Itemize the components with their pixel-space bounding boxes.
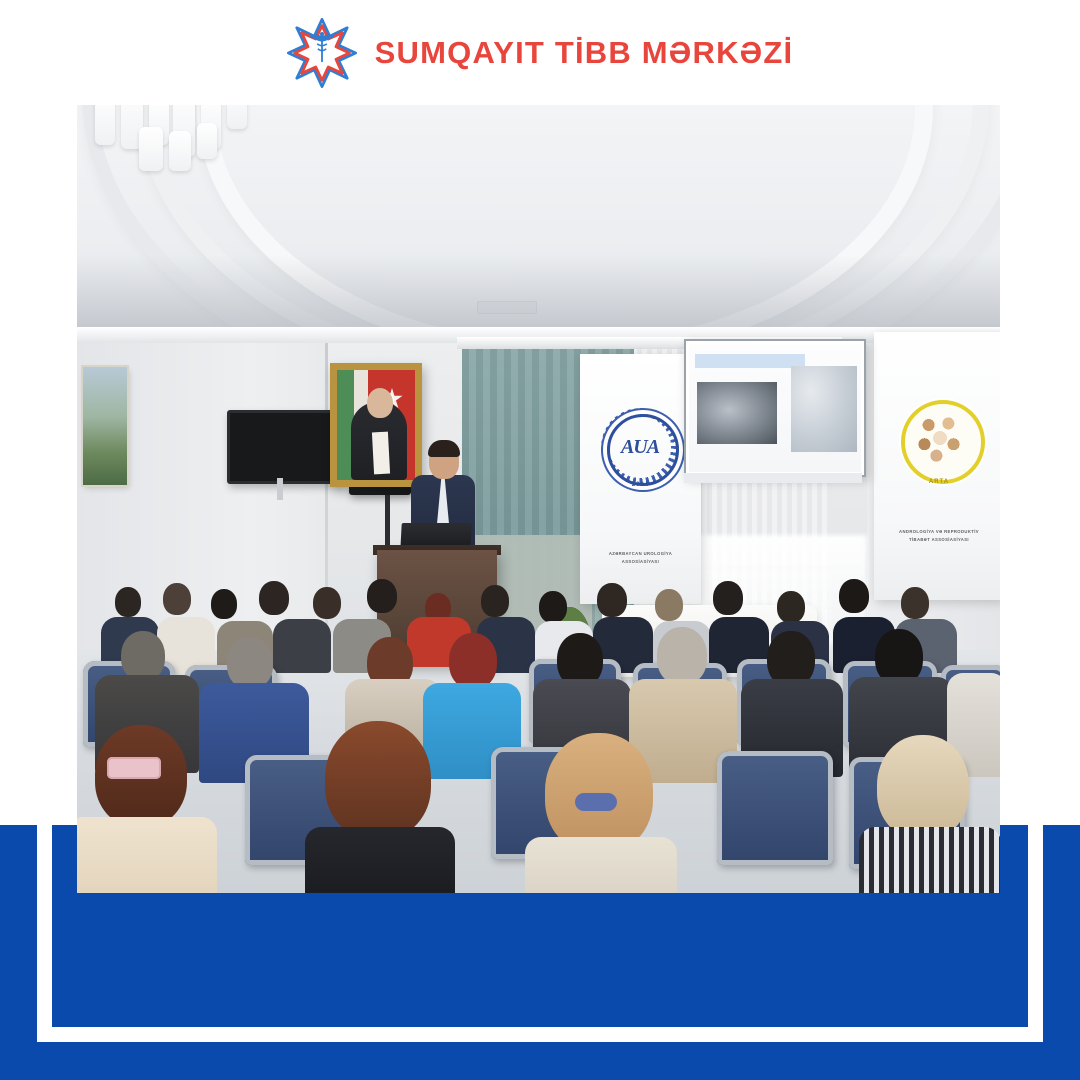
hair-tie-icon: [575, 793, 617, 811]
attendee-head: [313, 587, 341, 619]
portrait-shirt: [372, 432, 390, 475]
attendee-head: [839, 579, 869, 613]
tv-cable: [277, 478, 283, 500]
post-canvas: SUMQAYIT TİBB MƏRKƏZİ: [0, 0, 1080, 1080]
attendee-torso: [525, 837, 677, 893]
presenter-hair: [428, 440, 460, 457]
aua-abbr: AUA: [607, 416, 673, 478]
arta-abbr: ARTA: [874, 479, 1000, 485]
aua-year: 2004: [580, 482, 701, 488]
arta-caption-line1: ANDROLOGİYA VƏ REPRODUKTİV: [874, 528, 1000, 535]
chair: [717, 751, 833, 865]
attendee-torso: [305, 827, 455, 893]
attendee-head: [657, 627, 707, 685]
page-title: SUMQAYIT TİBB MƏRKƏZİ: [375, 35, 794, 71]
attendee-head: [325, 721, 431, 839]
arta-figures-icon: [913, 412, 965, 464]
aua-banner: AUA 2004 AZƏRBAYCAN UROLOGİYA ASSOSİASİY…: [580, 354, 701, 604]
portrait-head: [367, 388, 393, 418]
arta-banner: ARTA ANDROLOGİYA VƏ REPRODUKTİV TİBABƏT …: [874, 332, 1000, 600]
attendee-head: [777, 591, 805, 623]
audience: [77, 575, 1000, 893]
attendee-head: [901, 587, 929, 619]
ceiling: [77, 105, 1000, 340]
attendee-head: [539, 591, 567, 623]
attendee-head: [367, 579, 397, 613]
hair-clip-icon: [107, 757, 161, 779]
presentation-slide: [689, 344, 861, 472]
attendee-head: [211, 589, 237, 619]
attendee-head: [115, 587, 141, 617]
attendee-torso: [77, 817, 217, 893]
attendee-torso: [273, 619, 331, 673]
attendee-head: [259, 581, 289, 615]
attendee-head: [163, 583, 191, 615]
attendee-head: [877, 735, 969, 839]
attendee-head: [449, 633, 497, 689]
attendee-head: [481, 585, 509, 617]
landscape-painting: [83, 367, 127, 485]
arta-caption-line2: TİBABƏT ASSOSİASİYASI: [874, 536, 1000, 543]
attendee-head: [227, 637, 273, 689]
screen-bottom-bar: [684, 473, 862, 483]
conference-photo: AUA 2004 AZƏRBAYCAN UROLOGİYA ASSOSİASİY…: [77, 105, 1000, 893]
slide-scan-image: [791, 366, 857, 452]
header: SUMQAYIT TİBB MƏRKƏZİ: [0, 0, 1080, 105]
wall-mounted-tv: [227, 410, 343, 484]
projection-screen: [684, 339, 866, 477]
slide-title-bar: [695, 354, 805, 368]
aua-caption-line2: ASSOSİASİYASI: [580, 558, 701, 565]
attendee-head: [121, 631, 165, 681]
slide-ultrasound-image: [697, 382, 777, 444]
sumqayit-medical-center-star-logo: [287, 18, 357, 88]
attendee-head: [713, 581, 743, 615]
attendee-head: [597, 583, 627, 617]
attendee-head: [655, 589, 683, 621]
attendee-torso: [859, 827, 1000, 893]
aua-caption-line1: AZƏRBAYCAN UROLOGİYA: [580, 550, 701, 557]
